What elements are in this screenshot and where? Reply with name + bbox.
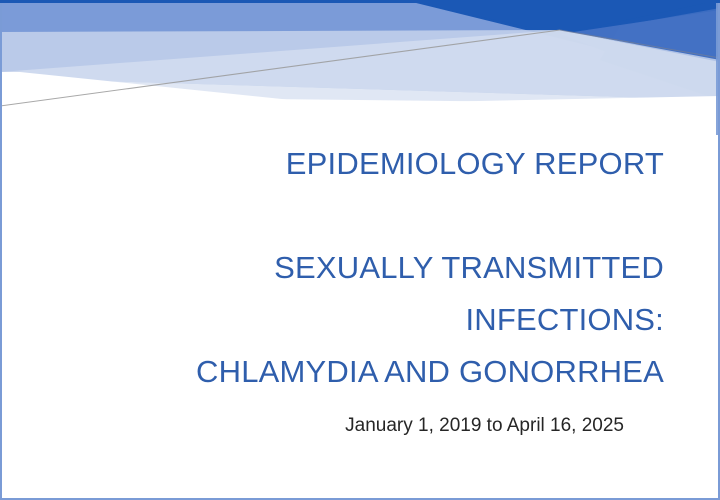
title-line-3: INFECTIONS: [60, 294, 664, 346]
banner-top-edge-left [0, 0, 404, 3]
title-line-1: EPIDEMIOLOGY REPORT [60, 138, 664, 190]
subtitle: January 1, 2019 to April 16, 2025 [60, 412, 624, 440]
title-line-2: SEXUALLY TRANSMITTED [60, 242, 664, 294]
title-slide: EPIDEMIOLOGY REPORT SEXUALLY TRANSMITTED… [0, 0, 720, 500]
title-line-4: CHLAMYDIA AND GONORRHEA [60, 346, 664, 398]
decorative-banner [0, 0, 720, 135]
banner-artwork [0, 0, 720, 135]
page-title: EPIDEMIOLOGY REPORT SEXUALLY TRANSMITTED… [60, 138, 664, 398]
banner-right-edge [716, 0, 720, 135]
date-range-text: January 1, 2019 to April 16, 2025 [60, 412, 624, 440]
title-line-blank [60, 190, 664, 242]
